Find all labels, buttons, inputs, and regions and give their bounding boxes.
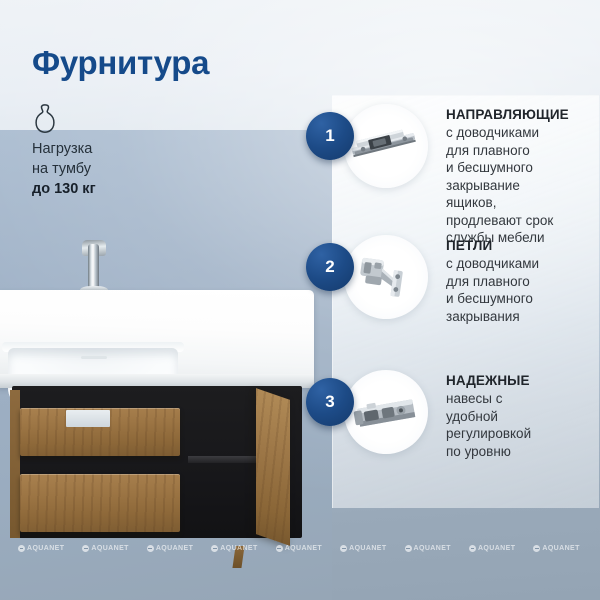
load-label-line1: Нагрузка xyxy=(32,140,152,158)
load-capacity-block: Нагрузка на тумбу до 130 кг xyxy=(32,104,152,198)
watermark: AQUANET xyxy=(18,545,64,552)
watermark-row: AQUANETAQUANETAQUANETAQUANETAQUANETAQUAN… xyxy=(0,540,600,556)
watermark: AQUANET xyxy=(147,545,193,552)
feature-text-1: НАПРАВЛЯЮЩИЕ с доводчиками для плавного … xyxy=(446,106,598,247)
watermark-label: AQUANET xyxy=(27,545,64,552)
watermark-label: AQUANET xyxy=(349,545,386,552)
watermark-label: AQUANET xyxy=(542,545,579,552)
faucet-body xyxy=(88,244,99,290)
watermark-label: AQUANET xyxy=(91,545,128,552)
feature-heading-2: ПЕТЛИ xyxy=(446,237,598,254)
aquanet-logo-icon xyxy=(211,545,218,552)
drawer-slide-rail-photo xyxy=(344,104,428,188)
open-cabinet-door xyxy=(256,388,290,546)
wall-mount-bracket-photo xyxy=(344,370,428,454)
drawer-slide-icon xyxy=(344,104,428,188)
feature-body-1: с доводчиками для плавного и бесшумного … xyxy=(446,124,598,247)
cabinet-body xyxy=(10,386,308,546)
aquanet-logo-icon xyxy=(469,545,476,552)
drawer-gap-light xyxy=(66,410,110,427)
infographic-canvas: Фурнитура Нагрузка на тумбу до 130 кг 1 xyxy=(0,0,600,600)
cabinet-hinge-icon xyxy=(344,235,428,319)
watermark-label: AQUANET xyxy=(156,545,193,552)
watermark: AQUANET xyxy=(276,545,322,552)
page-title: Фурнитура xyxy=(32,44,209,82)
watermark: AQUANET xyxy=(211,545,257,552)
wall-bracket-icon xyxy=(344,370,428,454)
countertop xyxy=(0,290,314,386)
weight-kettlebell-icon xyxy=(32,104,58,138)
overflow-slot xyxy=(81,356,107,359)
watermark: AQUANET xyxy=(469,545,515,552)
feature-body-2: с доводчиками для плавного и бесшумного … xyxy=(446,255,598,325)
feature-text-2: ПЕТЛИ с доводчиками для плавного и бесшу… xyxy=(446,237,598,325)
aquanet-logo-icon xyxy=(405,545,412,552)
aquanet-logo-icon xyxy=(340,545,347,552)
lower-drawer xyxy=(20,474,180,532)
watermark: AQUANET xyxy=(533,545,579,552)
watermark: AQUANET xyxy=(340,545,386,552)
aquanet-logo-icon xyxy=(147,545,154,552)
watermark-label: AQUANET xyxy=(285,545,322,552)
watermark-label: AQUANET xyxy=(478,545,515,552)
watermark-label: AQUANET xyxy=(220,545,257,552)
upper-drawer xyxy=(20,408,180,456)
feature-heading-3: НАДЕЖНЫЕ xyxy=(446,372,598,389)
feature-heading-1: НАПРАВЛЯЮЩИЕ xyxy=(446,106,598,123)
aquanet-logo-icon xyxy=(82,545,89,552)
feature-number-badge-1: 1 xyxy=(306,112,354,160)
aquanet-logo-icon xyxy=(276,545,283,552)
aquanet-logo-icon xyxy=(533,545,540,552)
vanity-product-image xyxy=(0,246,326,556)
watermark: AQUANET xyxy=(405,545,451,552)
load-label-line2: на тумбу xyxy=(32,160,152,178)
feature-text-3: НАДЕЖНЫЕ навесы с удобной регулировкой п… xyxy=(446,372,598,460)
feature-body-3: навесы с удобной регулировкой по уровню xyxy=(446,390,598,460)
feature-number-badge-3: 3 xyxy=(306,378,354,426)
aquanet-logo-icon xyxy=(18,545,25,552)
watermark-label: AQUANET xyxy=(414,545,451,552)
watermark: AQUANET xyxy=(82,545,128,552)
feature-number-badge-2: 2 xyxy=(306,243,354,291)
cabinet-hinge-photo xyxy=(344,235,428,319)
cabinet-side-panel xyxy=(10,390,20,538)
load-value: до 130 кг xyxy=(32,180,152,198)
